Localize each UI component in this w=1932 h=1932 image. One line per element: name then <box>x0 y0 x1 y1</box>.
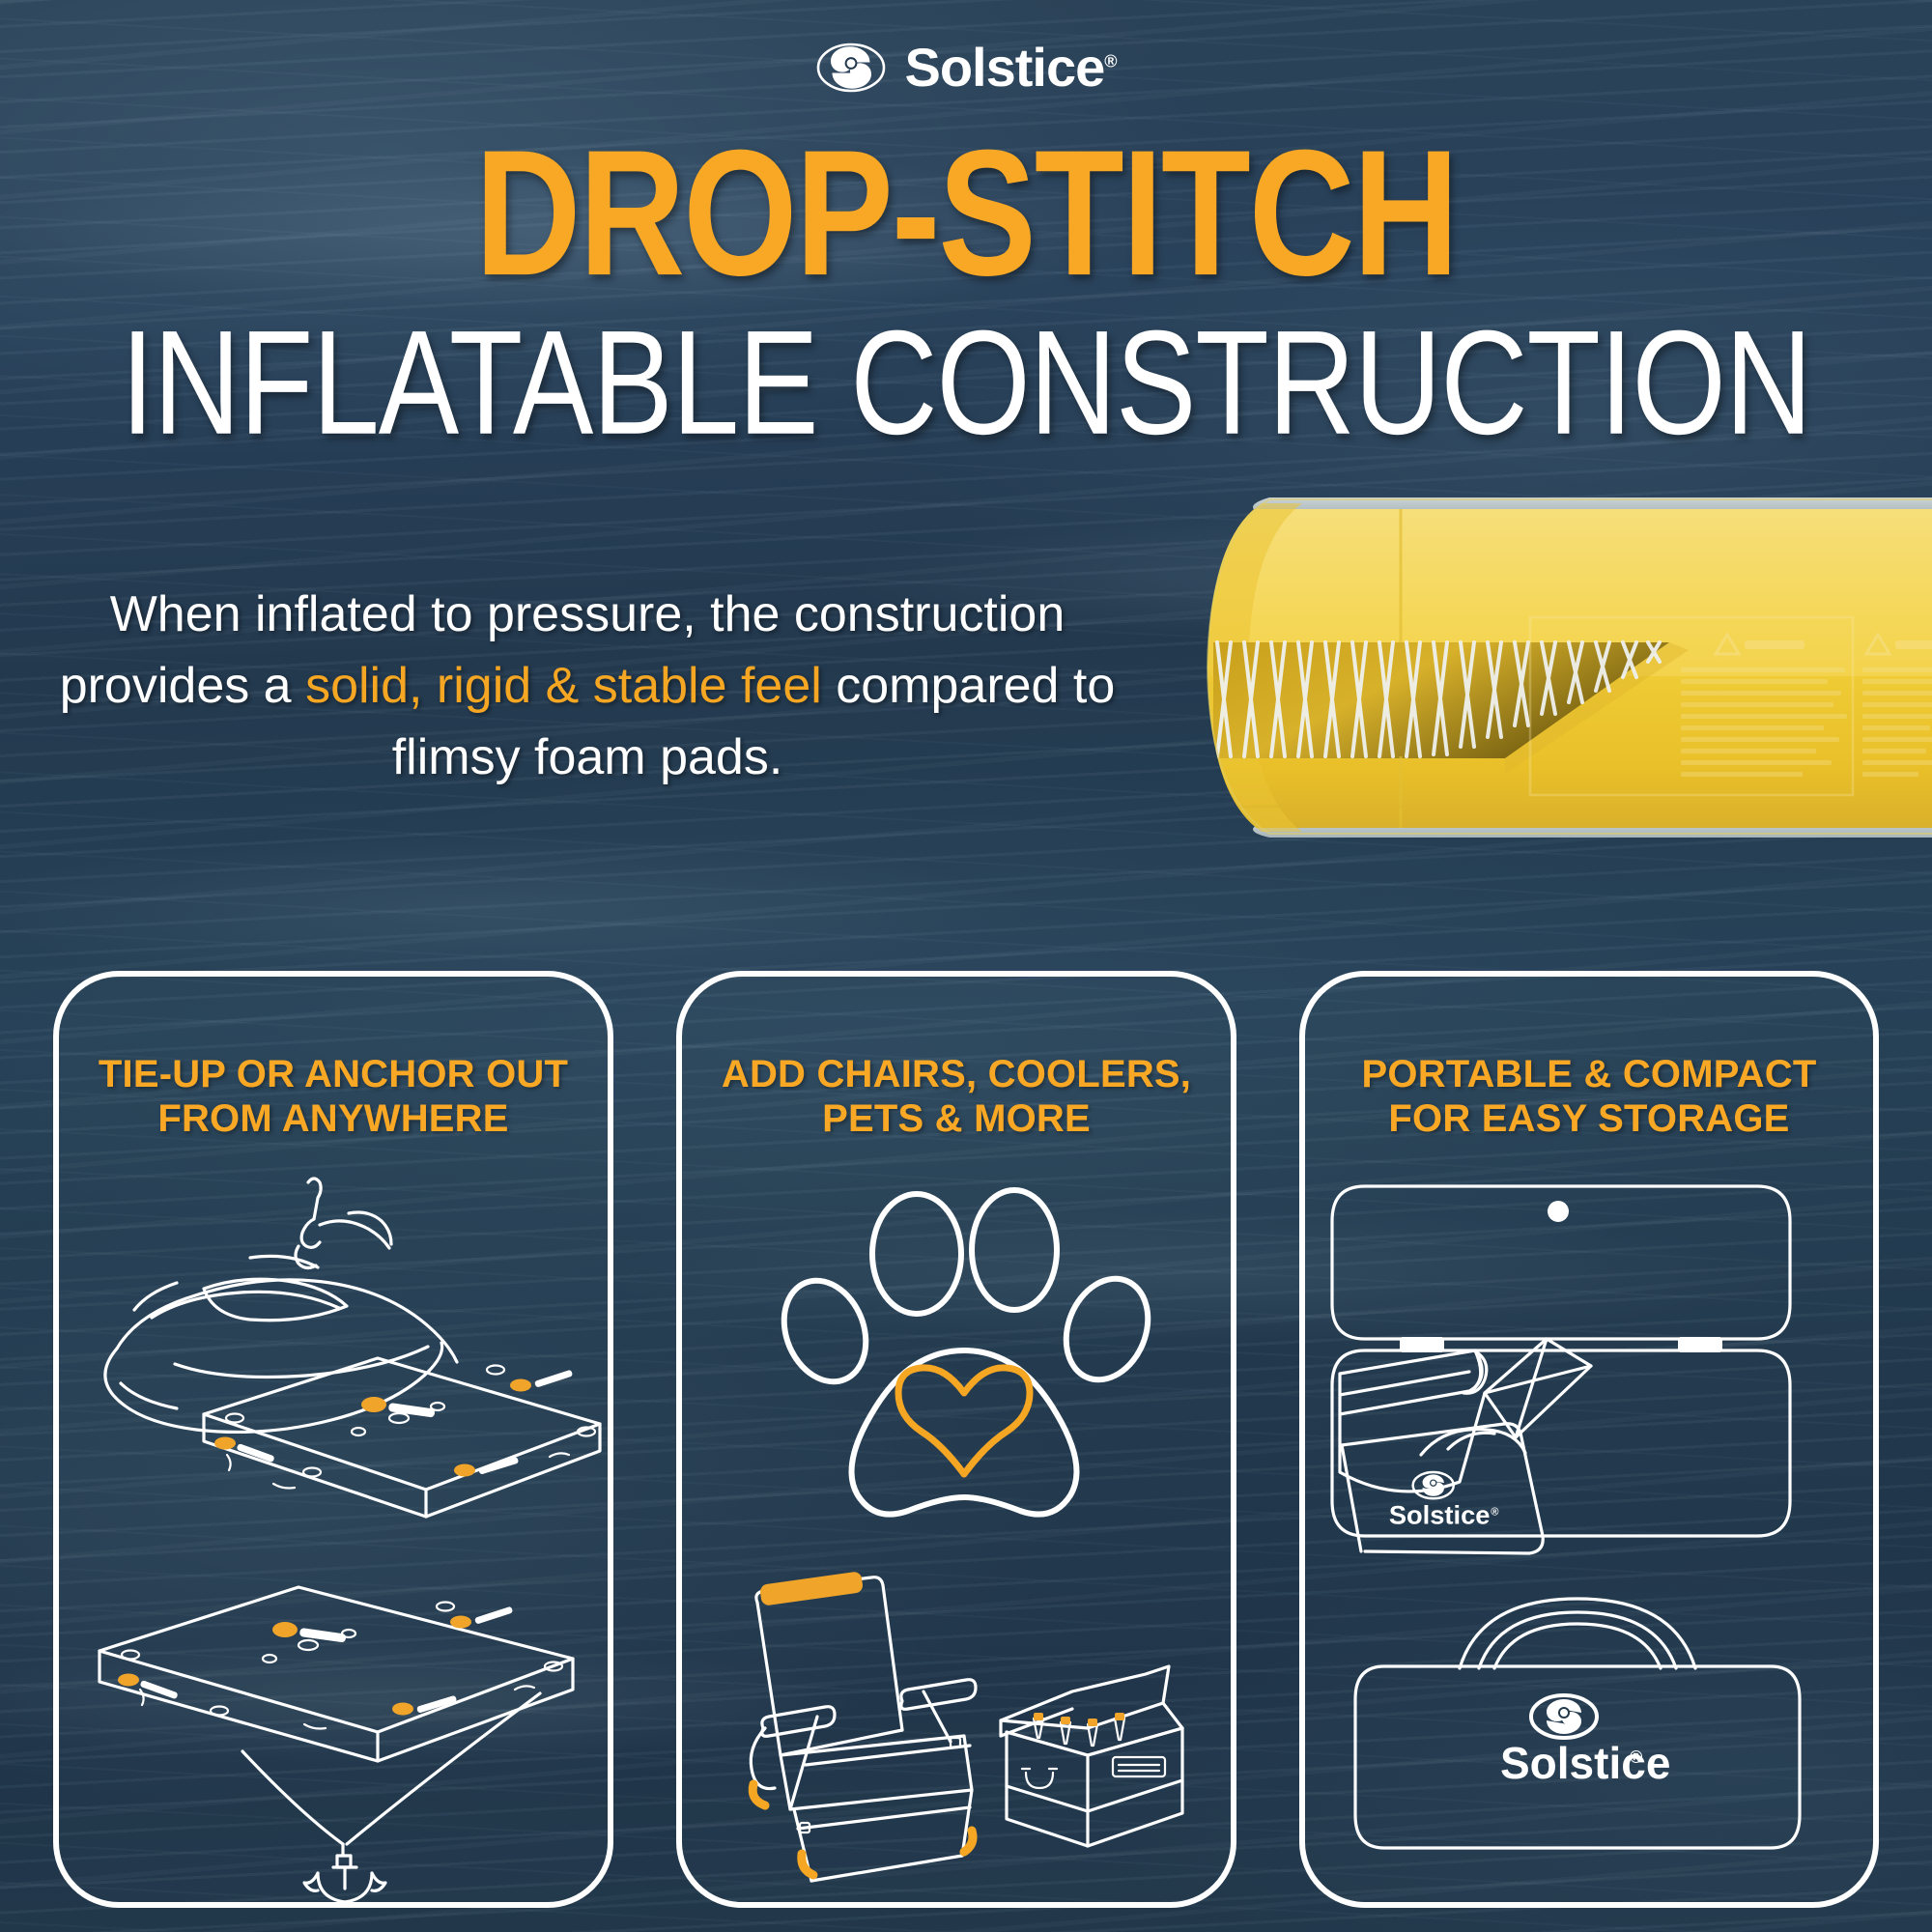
floating-mat-with-anchor-icon <box>59 1566 608 1894</box>
brand-name: Solstice® <box>904 41 1116 95</box>
solstice-duffel-bag-icon: Solstice ® <box>1305 1566 1873 1894</box>
svg-text:®: ® <box>1491 1507 1499 1519</box>
brand-header: Solstice® <box>0 29 1932 106</box>
open-storage-trunk-with-bag-icon: Solstice ® <box>1305 1165 1873 1551</box>
beach-chair-and-cooler-icon <box>682 1566 1231 1894</box>
card-title-line-1: PORTABLE & COMPACT <box>1362 1053 1817 1095</box>
card-title: PORTABLE & COMPACT FOR EASY STORAGE <box>1319 1052 1860 1142</box>
card-title-line-1: ADD CHAIRS, COOLERS, <box>722 1053 1191 1095</box>
description-paragraph: When inflated to pressure, the construct… <box>46 580 1128 793</box>
headline-secondary: INFLATABLE CONSTRUCTION <box>0 309 1932 457</box>
feature-card-tie-up-anchor[interactable]: TIE-UP OR ANCHOR OUT FROM ANYWHERE <box>53 971 613 1908</box>
card-title-line-2: FROM ANYWHERE <box>157 1097 508 1140</box>
svg-text:Solstice: Solstice <box>1500 1738 1670 1788</box>
paw-print-with-heart-icon <box>682 1165 1231 1551</box>
feature-cards: TIE-UP OR ANCHOR OUT FROM ANYWHERE <box>0 971 1932 1913</box>
drop-stitch-cutaway-illustration <box>1186 488 1932 847</box>
card-title-line-2: FOR EASY STORAGE <box>1388 1097 1789 1140</box>
svg-text:®: ® <box>1630 1747 1642 1767</box>
headline-primary: DROP-STITCH <box>0 124 1932 302</box>
feature-card-add-gear[interactable]: ADD CHAIRS, COOLERS, PETS & MORE <box>676 971 1236 1908</box>
jet-ski-alongside-floating-mat-icon <box>59 1165 608 1551</box>
svg-text:Solstice: Solstice <box>1389 1499 1491 1529</box>
card-title: TIE-UP OR ANCHOR OUT FROM ANYWHERE <box>72 1052 594 1142</box>
solstice-logo-icon <box>815 41 887 95</box>
registered-mark: ® <box>1104 51 1116 71</box>
card-title-line-1: TIE-UP OR ANCHOR OUT <box>99 1053 568 1095</box>
card-title: ADD CHAIRS, COOLERS, PETS & MORE <box>696 1052 1217 1142</box>
feature-card-portable-compact[interactable]: PORTABLE & COMPACT FOR EASY STORAGE <box>1299 971 1879 1908</box>
card-title-line-2: PETS & MORE <box>822 1097 1091 1140</box>
description-highlight: solid, rigid & stable feel <box>305 658 822 714</box>
